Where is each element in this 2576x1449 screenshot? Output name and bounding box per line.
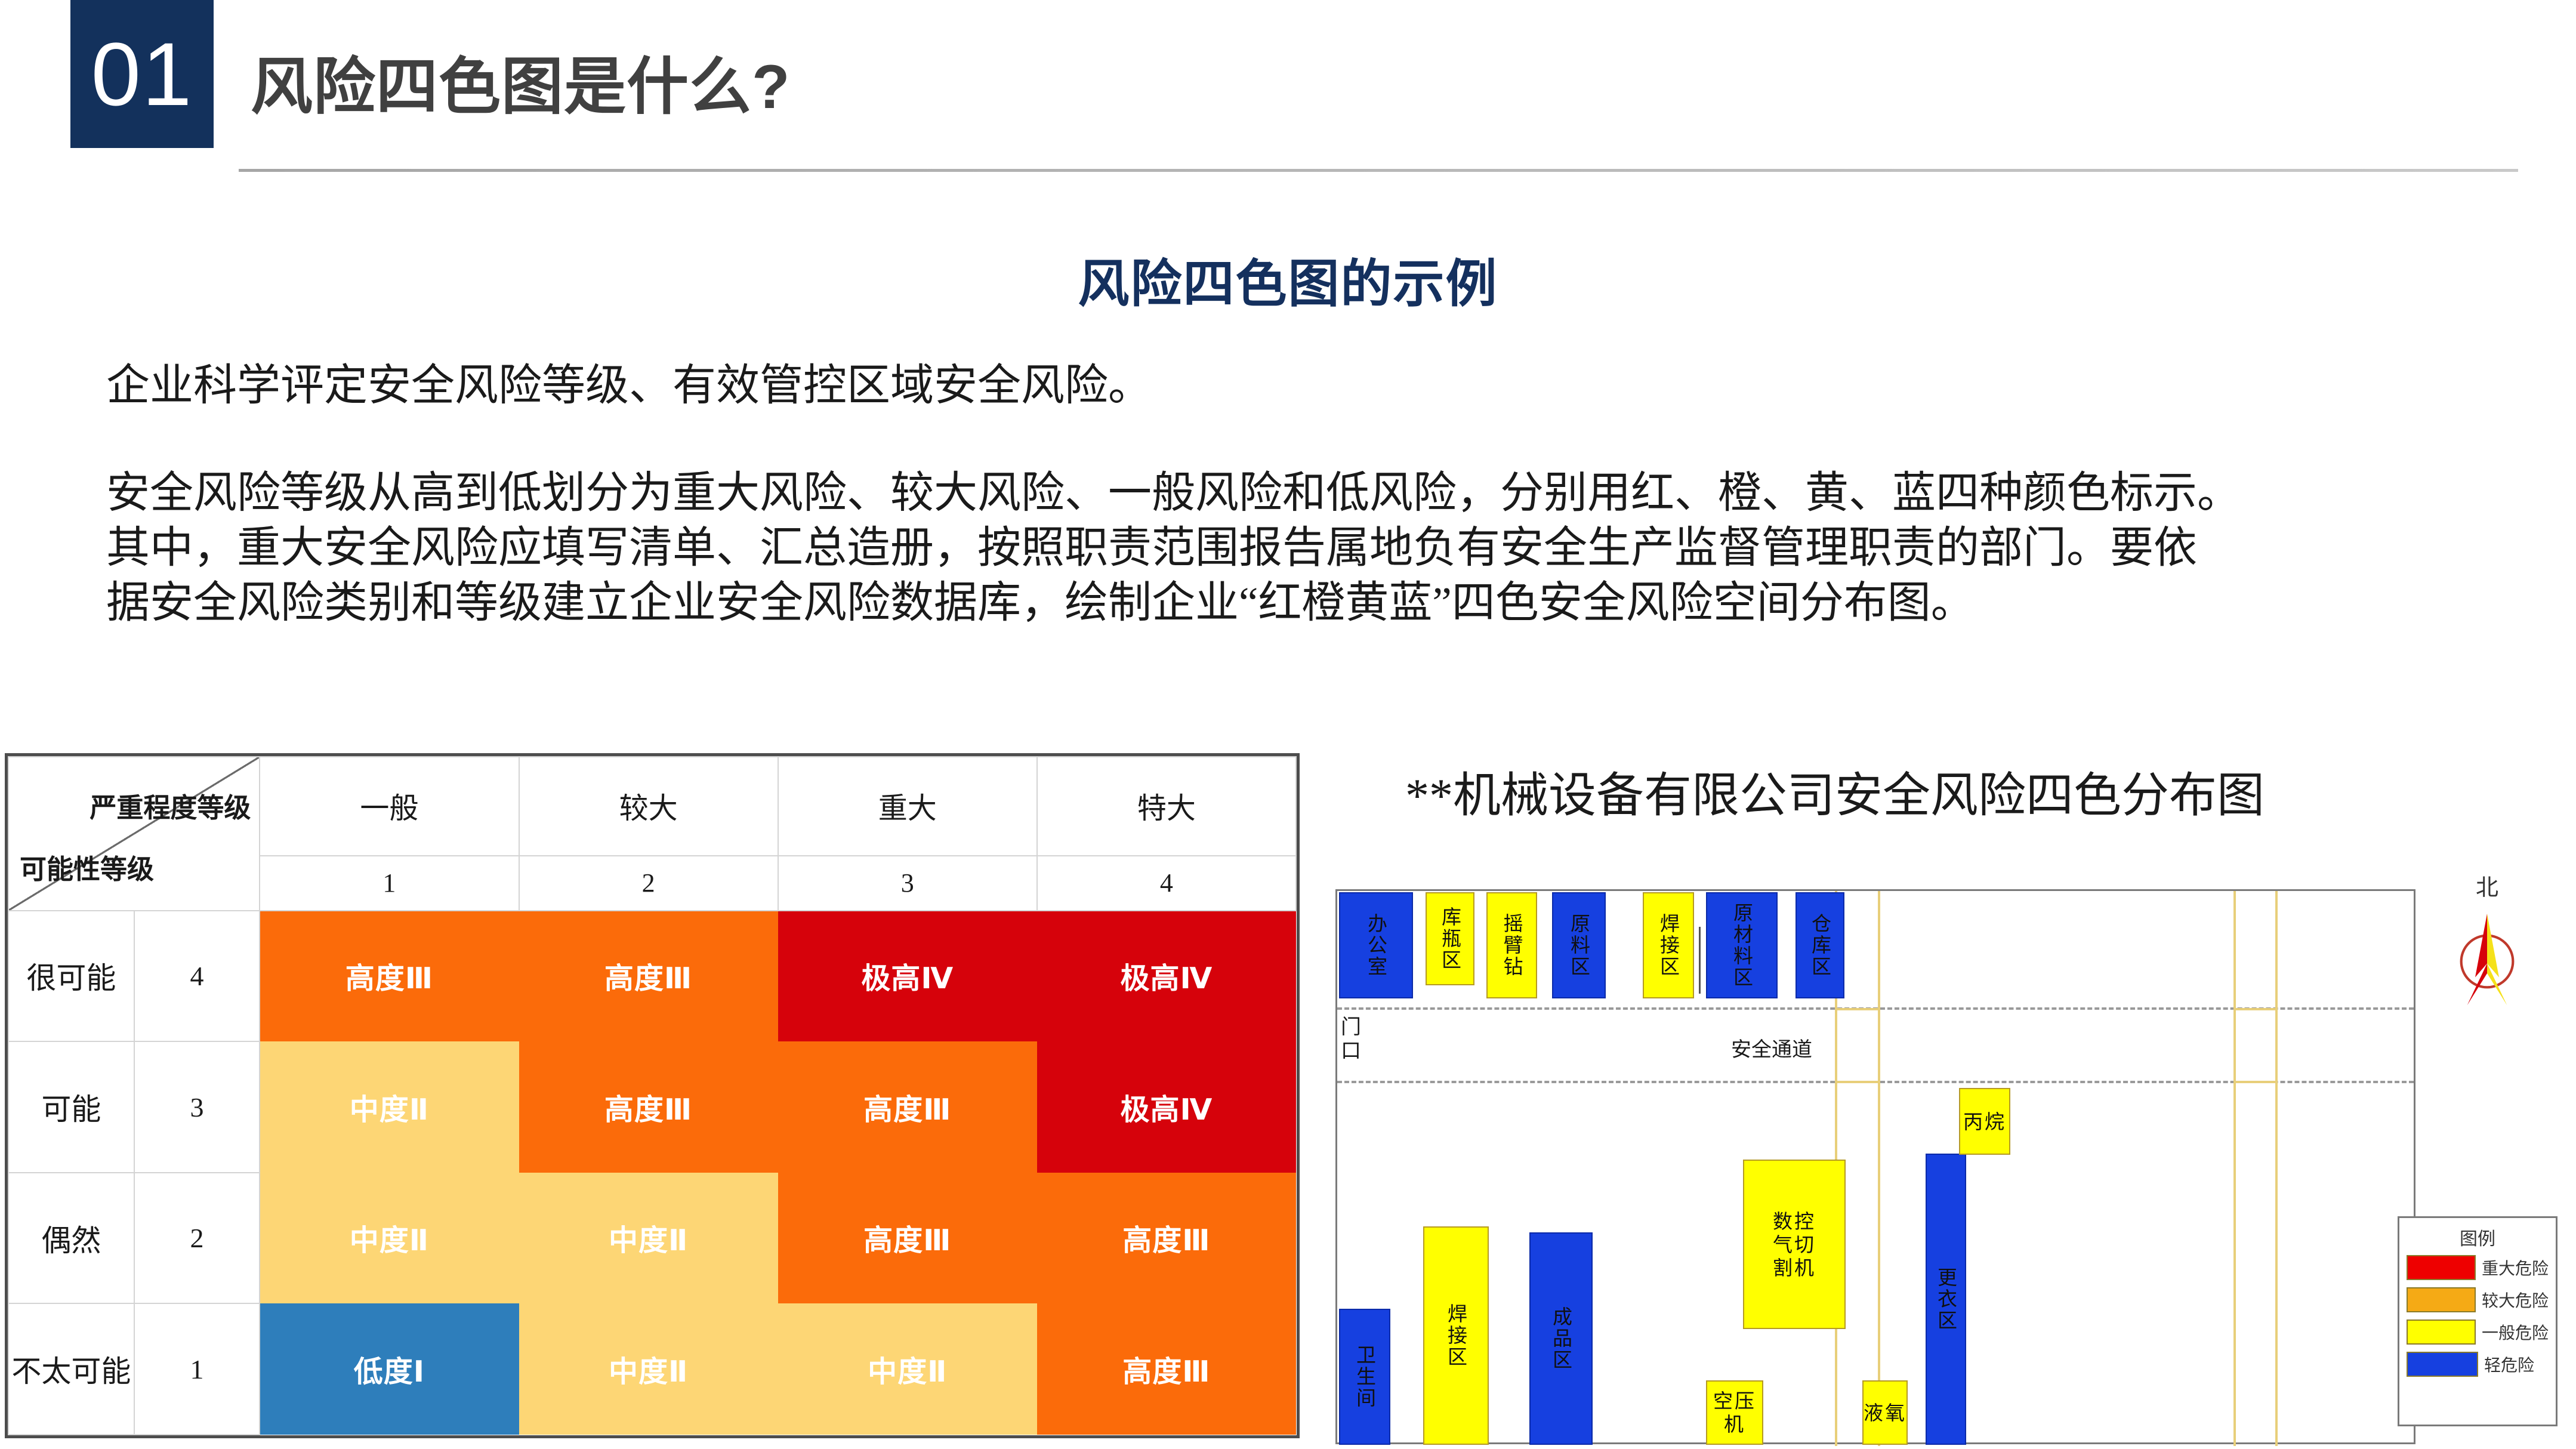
room-label: 空压机 <box>1707 1389 1762 1436</box>
room-cnc-gas-cutter[interactable]: 数控气切割机 <box>1743 1160 1846 1329</box>
pathway-line-right-b <box>2275 891 2278 1446</box>
severity-name-4: 特大 <box>1037 757 1296 856</box>
legend-swatch-general <box>2407 1319 2476 1345</box>
room-label: 焊接区 <box>1657 913 1680 978</box>
severity-number-1: 1 <box>260 856 519 911</box>
matrix-cell-3-1: 中度Ⅱ <box>519 1303 778 1435</box>
likelihood-number-0: 4 <box>134 911 260 1042</box>
room-label: 成品区 <box>1550 1306 1573 1371</box>
room-air-compressor[interactable]: 空压机 <box>1706 1380 1763 1445</box>
room-label: 库瓶区 <box>1439 907 1462 971</box>
slide-root: 01 风险四色图是什么? 风险四色图的示例 企业科学评定安全风险等级、有效管控区… <box>0 0 2576 1449</box>
room-cylinder-storage[interactable]: 库瓶区 <box>1426 892 1474 985</box>
matrix-corner-cell: 严重程度等级 可能性等级 <box>8 757 260 911</box>
header-divider <box>239 169 2518 172</box>
paragraph-1: 企业科学评定安全风险等级、有效管控区域安全风险。 <box>106 358 2499 413</box>
pathway-join-left-bottom <box>1835 1081 1879 1083</box>
legend-item-major: 重大危险 <box>2407 1255 2549 1280</box>
safety-corridor-label: 安全通道 <box>1731 1033 1812 1062</box>
body-text: 企业科学评定安全风险等级、有效管控区域安全风险。 安全风险等级从高到低划分为重大… <box>106 358 2499 630</box>
legend-swatch-major <box>2407 1255 2476 1280</box>
legend-label-general: 一般危险 <box>2482 1320 2549 1344</box>
room-label: 液氧 <box>1864 1401 1906 1425</box>
matrix-cell-2-2: 高度Ⅲ <box>778 1173 1037 1304</box>
compass-north-label: 北 <box>2433 869 2541 902</box>
pathway-join-right-bottom <box>2233 1081 2278 1083</box>
matrix-cell-3-0: 低度Ⅰ <box>260 1303 519 1435</box>
likelihood-label-3: 不太可能 <box>8 1303 134 1435</box>
room-raw-materials-zone[interactable]: 原材料区 <box>1706 892 1778 998</box>
room-propane[interactable]: 丙烷 <box>1959 1088 2010 1155</box>
legend-label-low: 轻危险 <box>2484 1352 2534 1376</box>
paragraph-2-line-3: 据安全风险类别和等级建立企业安全风险数据库，绘制企业“红橙黄蓝”四色安全风险空间… <box>106 575 2499 630</box>
likelihood-label-2: 偶然 <box>8 1173 134 1304</box>
room-label: 焊接区 <box>1445 1303 1468 1368</box>
severity-number-3: 3 <box>778 856 1037 911</box>
room-restroom[interactable]: 卫生间 <box>1339 1309 1390 1445</box>
pathway-join-right-top <box>2233 1008 2278 1010</box>
matrix-cell-3-3: 高度Ⅲ <box>1037 1303 1296 1435</box>
room-raw-material-area[interactable]: 原料区 <box>1552 892 1606 998</box>
matrix-cell-1-3: 极高Ⅳ <box>1037 1041 1296 1173</box>
room-label: 丙烷 <box>1963 1110 2006 1133</box>
page-title: 风险四色图是什么? <box>251 36 791 126</box>
room-label: 原料区 <box>1568 913 1591 978</box>
room-welding-area-top[interactable]: 焊接区 <box>1643 892 1694 998</box>
severity-number-4: 4 <box>1037 856 1296 911</box>
room-welding-area-bottom[interactable]: 焊接区 <box>1423 1226 1489 1445</box>
matrix-cell-0-3: 极高Ⅳ <box>1037 911 1296 1042</box>
likelihood-label-1: 可能 <box>8 1041 134 1173</box>
room-label: 卫生间 <box>1353 1345 1377 1409</box>
room-office[interactable]: 办公室 <box>1339 892 1413 998</box>
paragraph-2-line-1: 安全风险等级从高到低划分为重大风险、较大风险、一般风险和低风险，分别用红、橙、黄… <box>106 465 2499 520</box>
legend-item-low: 轻危险 <box>2407 1352 2549 1377</box>
matrix-row: 可能 3 中度Ⅱ 高度Ⅲ 高度Ⅲ 极高Ⅳ <box>8 1041 1296 1173</box>
matrix-row: 偶然 2 中度Ⅱ 中度Ⅱ 高度Ⅲ 高度Ⅲ <box>8 1173 1296 1304</box>
matrix-cell-2-0: 中度Ⅱ <box>260 1173 519 1304</box>
legend-item-high: 较大危险 <box>2407 1287 2549 1312</box>
paragraph-2: 安全风险等级从高到低划分为重大风险、较大风险、一般风险和低风险，分别用红、橙、黄… <box>106 465 2499 630</box>
section-subtitle: 风险四色图的示例 <box>0 242 2576 316</box>
room-label: 办公室 <box>1365 913 1388 978</box>
floor-plan: 门 口 安全通道 办公室 库瓶区 摇臂钻 原料区 焊接区 原材料区 仓库区 <box>1335 889 2415 1444</box>
matrix-row: 很可能 4 高度Ⅲ 高度Ⅲ 极高Ⅳ 极高Ⅳ <box>8 911 1296 1042</box>
likelihood-number-3: 1 <box>134 1303 260 1435</box>
room-label: 原材料区 <box>1730 902 1754 988</box>
matrix-row: 不太可能 1 低度Ⅰ 中度Ⅱ 中度Ⅱ 高度Ⅲ <box>8 1303 1296 1435</box>
room-label: 摇臂钻 <box>1500 913 1523 978</box>
room-liquid-oxygen[interactable]: 液氧 <box>1862 1380 1908 1445</box>
matrix-cell-1-1: 高度Ⅲ <box>519 1041 778 1173</box>
matrix-cell-1-2: 高度Ⅲ <box>778 1041 1037 1173</box>
severity-name-2: 较大 <box>519 757 778 856</box>
paragraph-2-line-2: 其中，重大安全风险应填写清单、汇总造册，按照职责范围报告属地负有安全生产监督管理… <box>106 520 2499 575</box>
legend-box: 图例 重大危险 较大危险 一般危险 轻危险 <box>2398 1216 2558 1426</box>
matrix-corner-severity-label: 严重程度等级 <box>90 786 251 825</box>
matrix-cell-3-2: 中度Ⅱ <box>778 1303 1037 1435</box>
compass-rose: 北 <box>2433 869 2541 1024</box>
matrix-header-row-names: 严重程度等级 可能性等级 一般 较大 重大 特大 <box>8 757 1296 856</box>
legend-swatch-high <box>2407 1287 2476 1312</box>
severity-name-3: 重大 <box>778 757 1037 856</box>
room-radial-drill[interactable]: 摇臂钻 <box>1486 892 1537 998</box>
likelihood-label-0: 很可能 <box>8 911 134 1042</box>
matrix-cell-2-1: 中度Ⅱ <box>519 1173 778 1304</box>
matrix-cell-1-0: 中度Ⅱ <box>260 1041 519 1173</box>
pathway-line-right-a <box>2233 891 2236 1446</box>
door-label: 门 口 <box>1341 1015 1361 1063</box>
compass-needle-icon <box>2436 902 2538 1021</box>
partition-line-1 <box>1699 927 1701 994</box>
likelihood-number-2: 2 <box>134 1173 260 1304</box>
legend-title: 图例 <box>2407 1224 2549 1250</box>
room-changing-area[interactable]: 更衣区 <box>1926 1154 1966 1445</box>
severity-name-1: 一般 <box>260 757 519 856</box>
matrix-cell-0-1: 高度Ⅲ <box>519 911 778 1042</box>
room-label: 更衣区 <box>1935 1267 1958 1331</box>
room-label: 数控气切割机 <box>1767 1210 1821 1280</box>
matrix-cell-0-0: 高度Ⅲ <box>260 911 519 1042</box>
severity-number-2: 2 <box>519 856 778 911</box>
floor-plan-title: **机械设备有限公司安全风险四色分布图 <box>1405 757 2265 826</box>
pathway-join-left-top <box>1835 1008 1879 1010</box>
pathway-line-left-b <box>1878 891 1880 1446</box>
risk-matrix-table: 严重程度等级 可能性等级 一般 较大 重大 特大 1 2 3 4 很可能 4 高… <box>5 753 1300 1438</box>
legend-label-high: 较大危险 <box>2482 1288 2549 1312</box>
matrix-cell-0-2: 极高Ⅳ <box>778 911 1037 1042</box>
legend-item-general: 一般危险 <box>2407 1319 2549 1345</box>
likelihood-number-1: 3 <box>134 1041 260 1173</box>
legend-label-major: 重大危险 <box>2482 1256 2549 1280</box>
room-warehouse[interactable]: 仓库区 <box>1796 892 1844 998</box>
room-label: 仓库区 <box>1809 913 1832 978</box>
legend-swatch-low <box>2407 1352 2478 1377</box>
matrix-cell-2-3: 高度Ⅲ <box>1037 1173 1296 1304</box>
section-number-badge: 01 <box>70 0 214 148</box>
room-finished-goods[interactable]: 成品区 <box>1529 1232 1593 1445</box>
matrix-corner-likelihood-label: 可能性等级 <box>20 847 154 886</box>
